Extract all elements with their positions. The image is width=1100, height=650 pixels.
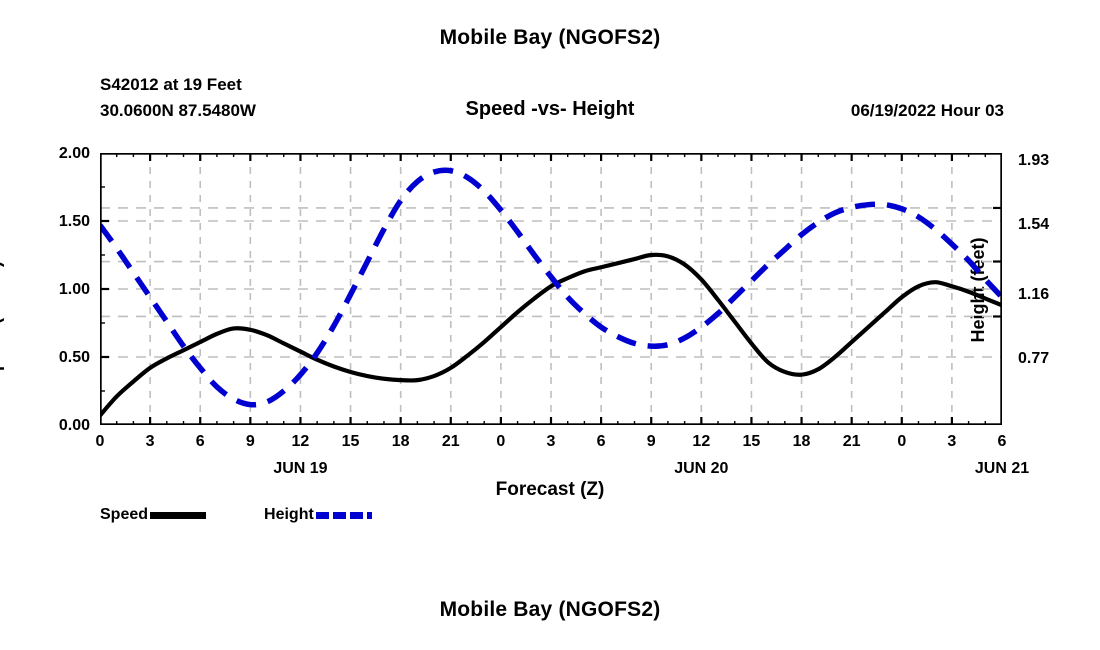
plot-area [100, 153, 1002, 425]
left-axis-title: Speed (Knots) [0, 222, 5, 422]
right-tick-label-1: 1.16 [1018, 286, 1088, 304]
right-tick-label-0: 0.77 [1018, 350, 1088, 368]
legend-swatch-speed-solid-line [150, 512, 206, 519]
x-tick-label-5: 15 [336, 433, 366, 451]
legend-item-speed: Speed [100, 506, 206, 524]
page-title-top: Mobile Bay (NGOFS2) [0, 26, 1100, 50]
x-tick-label-13: 15 [736, 433, 766, 451]
forecast-run-time: 06/19/2022 Hour 03 [851, 101, 1004, 121]
x-tick-label-1: 3 [135, 433, 165, 451]
x-tick-label-0: 0 [85, 433, 115, 451]
x-tick-label-12: 12 [686, 433, 716, 451]
x-tick-label-14: 18 [787, 433, 817, 451]
x-tick-label-11: 9 [636, 433, 666, 451]
x-tick-label-16: 0 [887, 433, 917, 451]
left-tick-label-1: 0.50 [20, 349, 90, 367]
x-tick-label-2: 6 [185, 433, 215, 451]
x-tick-label-6: 18 [386, 433, 416, 451]
day-label-0: JUN 19 [240, 460, 360, 478]
x-tick-label-3: 9 [235, 433, 265, 451]
legend-label-height: Height [264, 506, 314, 524]
left-tick-label-3: 1.50 [20, 213, 90, 231]
x-tick-label-17: 3 [937, 433, 967, 451]
right-tick-label-2: 1.54 [1018, 216, 1088, 234]
x-tick-label-4: 12 [285, 433, 315, 451]
left-tick-label-2: 1.00 [20, 281, 90, 299]
station-info-line: S42012 at 19 Feet [100, 75, 242, 95]
x-tick-label-7: 21 [436, 433, 466, 451]
legend-label-speed: Speed [100, 506, 148, 524]
x-tick-label-18: 6 [987, 433, 1017, 451]
day-label-2: JUN 21 [942, 460, 1062, 478]
day-label-1: JUN 20 [641, 460, 761, 478]
gridlines [100, 153, 1002, 425]
x-tick-label-10: 6 [586, 433, 616, 451]
x-tick-label-9: 3 [536, 433, 566, 451]
legend-item-height: Height [264, 506, 372, 524]
chart-legend: Speed Height [100, 506, 372, 524]
x-tick-label-8: 0 [486, 433, 516, 451]
left-tick-label-0: 0.00 [20, 417, 90, 435]
chart-canvas [100, 153, 1002, 425]
x-tick-label-15: 21 [837, 433, 867, 451]
left-tick-label-4: 2.00 [20, 145, 90, 163]
right-tick-label-3: 1.93 [1018, 152, 1088, 170]
x-axis-title: Forecast (Z) [0, 479, 1100, 501]
page-title-bottom: Mobile Bay (NGOFS2) [0, 598, 1100, 622]
legend-swatch-height-dashed-line [316, 512, 372, 519]
